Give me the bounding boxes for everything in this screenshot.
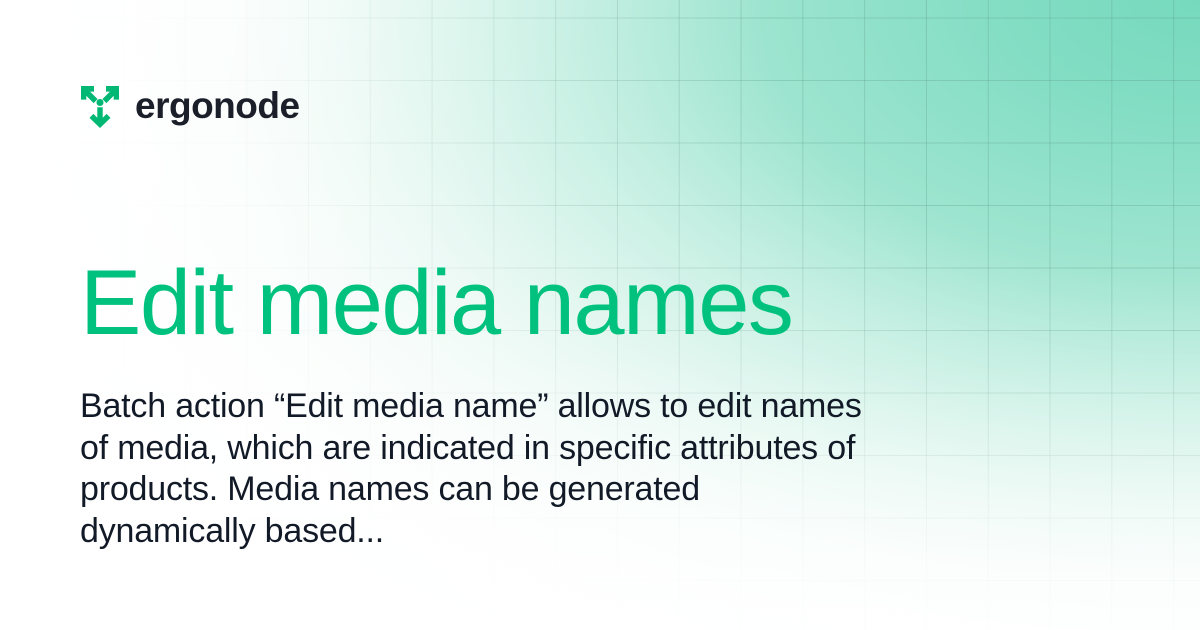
page-title: Edit media names bbox=[80, 252, 792, 354]
page-description: Batch action “Edit media name” allows to… bbox=[80, 386, 870, 552]
brand-name-label: ergonode bbox=[135, 87, 300, 124]
og-card: ergonode Edit media names Batch action “… bbox=[0, 0, 1200, 630]
brand-logo: ergonode bbox=[78, 82, 300, 128]
card-content: ergonode Edit media names Batch action “… bbox=[0, 0, 1200, 630]
ergonode-cube-arrows-icon bbox=[78, 82, 122, 128]
